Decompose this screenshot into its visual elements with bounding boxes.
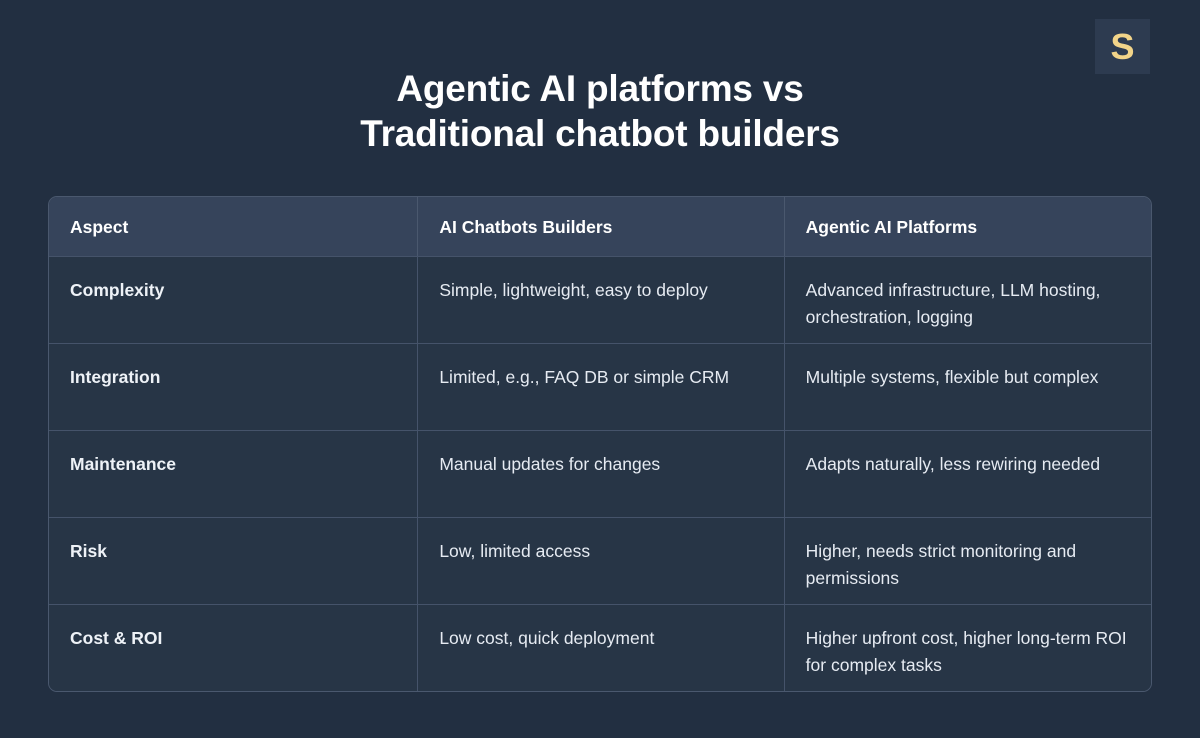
comparison-table: Aspect AI Chatbots Builders Agentic AI P…: [48, 196, 1152, 692]
page-title-line-1: Agentic AI platforms vs: [0, 66, 1200, 111]
table-header-row: Aspect AI Chatbots Builders Agentic AI P…: [49, 197, 1151, 256]
table-row: Complexity Simple, lightweight, easy to …: [49, 256, 1151, 343]
table-cell-chatbot: Low, limited access: [417, 518, 783, 604]
table-header-ai-chatbots-builders: AI Chatbots Builders: [417, 197, 783, 256]
page-title-line-2: Traditional chatbot builders: [0, 111, 1200, 156]
brand-logo-letter: S: [1110, 29, 1134, 65]
table-cell-aspect: Cost & ROI: [49, 605, 417, 691]
table-cell-agentic: Higher upfront cost, higher long-term RO…: [784, 605, 1151, 691]
table-cell-agentic: Advanced infrastructure, LLM hosting, or…: [784, 257, 1151, 343]
table-row: Risk Low, limited access Higher, needs s…: [49, 517, 1151, 604]
table-header-aspect: Aspect: [49, 197, 417, 256]
table-cell-agentic: Multiple systems, flexible but complex: [784, 344, 1151, 430]
table-header-agentic-ai-platforms: Agentic AI Platforms: [784, 197, 1151, 256]
table-row: Maintenance Manual updates for changes A…: [49, 430, 1151, 517]
table-cell-aspect: Integration: [49, 344, 417, 430]
table-row: Cost & ROI Low cost, quick deployment Hi…: [49, 604, 1151, 691]
table-cell-chatbot: Manual updates for changes: [417, 431, 783, 517]
table-cell-aspect: Complexity: [49, 257, 417, 343]
table-cell-agentic: Higher, needs strict monitoring and perm…: [784, 518, 1151, 604]
table-cell-agentic: Adapts naturally, less rewiring needed: [784, 431, 1151, 517]
table-cell-chatbot: Low cost, quick deployment: [417, 605, 783, 691]
table-cell-chatbot: Limited, e.g., FAQ DB or simple CRM: [417, 344, 783, 430]
table-row: Integration Limited, e.g., FAQ DB or sim…: [49, 343, 1151, 430]
page-title: Agentic AI platforms vs Traditional chat…: [0, 66, 1200, 156]
table-cell-aspect: Maintenance: [49, 431, 417, 517]
table-cell-chatbot: Simple, lightweight, easy to deploy: [417, 257, 783, 343]
table-cell-aspect: Risk: [49, 518, 417, 604]
